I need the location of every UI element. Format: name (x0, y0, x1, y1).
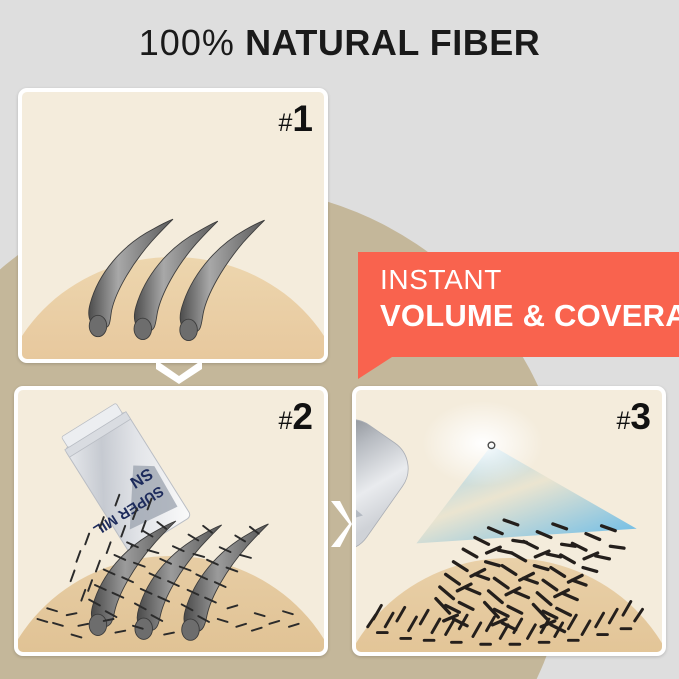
callout-line-2: VOLUME & COVERAGE (380, 300, 671, 332)
digit-3: 3 (630, 396, 650, 437)
fiber-tuft-3 (533, 526, 624, 632)
step-number-2: #2 (279, 398, 312, 435)
hash-symbol-1: # (279, 109, 293, 137)
spray-bottle: SUPER HAIR (356, 390, 420, 566)
coated-hair-strands (91, 521, 268, 632)
arrow-down-icon (152, 358, 206, 384)
step-panel-1: #1 (18, 88, 328, 363)
hair-strand-group (89, 219, 265, 332)
callout-line-1: INSTANT (380, 266, 671, 295)
scalp-scatter-fibers (37, 605, 298, 637)
step-number-1: #1 (279, 100, 312, 137)
shaker-bottle: SUPER MIL SN (43, 401, 192, 564)
digit-1: 1 (292, 98, 312, 139)
callout-text-block: INSTANT VOLUME & COVERAGE (380, 266, 671, 331)
coated-follicle-3 (182, 619, 200, 640)
step-panel-3: SUPER HAIR (352, 386, 666, 656)
title-percent: 100% (139, 22, 235, 63)
step-panel-2: SUPER MIL SN (14, 386, 328, 656)
arrow-right-icon (328, 498, 352, 550)
fiber-tuft-2 (485, 524, 576, 630)
infographic-stage: 100% NATURAL FIBER (0, 0, 679, 679)
nozzle-glow (422, 401, 543, 486)
page-title: 100% NATURAL FIBER (0, 22, 679, 64)
title-main: NATURAL FIBER (245, 22, 540, 63)
hair-follicle-1 (89, 315, 107, 336)
step-number-3: #3 (617, 398, 650, 435)
hash-symbol-3: # (617, 407, 631, 435)
hair-follicle-2 (134, 318, 152, 339)
hair-follicle-3 (180, 319, 198, 340)
callout-banner: INSTANT VOLUME & COVERAGE (358, 252, 679, 357)
coated-follicle-1 (89, 614, 107, 635)
hash-symbol-2: # (279, 407, 293, 435)
digit-2: 2 (292, 396, 312, 437)
